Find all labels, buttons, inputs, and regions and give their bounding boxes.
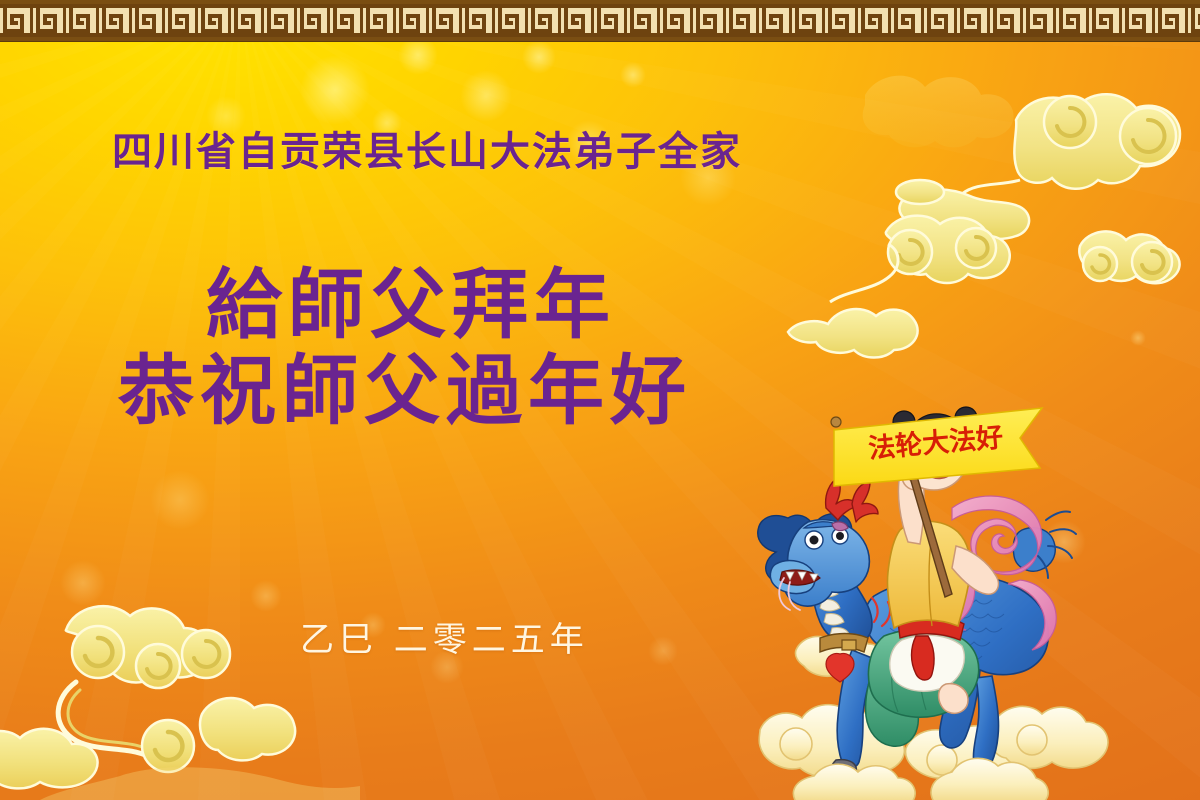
cloud-shape-right-small (1079, 231, 1179, 283)
bokeh-dot (150, 470, 210, 530)
cloud-decoration-top-right (770, 40, 1200, 370)
bokeh-dot (250, 580, 282, 612)
sender-line: 四川省自贡荣县长山大法弟子全家 (112, 132, 742, 172)
greek-key-unit (33, 4, 66, 37)
bokeh-dot (1130, 330, 1146, 346)
greek-key-unit (1056, 4, 1089, 37)
greek-key-unit (660, 4, 693, 37)
greek-key-unit (627, 4, 660, 37)
cloud-shape-upper (58, 606, 230, 760)
greek-key-unit (495, 4, 528, 37)
bokeh-dot (300, 55, 370, 125)
greek-key-unit (924, 4, 957, 37)
greek-key-border (0, 0, 1200, 41)
new-year-greeting-card: 法轮大法好 四川省自贡荣县长山大法弟子全家 給師父拜年 恭祝師父過年好 乙巳 二… (0, 0, 1200, 800)
greek-key-unit (528, 4, 561, 37)
greek-key-unit (1155, 4, 1188, 37)
greek-key-unit (957, 4, 990, 37)
cloud-shape-lower (788, 216, 1010, 358)
greek-key-unit (726, 4, 759, 37)
greek-key-unit (198, 4, 231, 37)
greek-key-unit (0, 4, 33, 37)
banner-flag: 法轮大法好 (831, 408, 1042, 486)
cloud-shape-lower-left (0, 698, 360, 800)
main-greeting-block: 給師父拜年 恭祝師父過年好 (118, 262, 692, 434)
greek-key-unit (231, 4, 264, 37)
greeting-line-2: 恭祝師父過年好 (118, 348, 692, 434)
bokeh-dot (522, 40, 556, 74)
greek-key-unit (759, 4, 792, 37)
greeting-line-1: 給師父拜年 (206, 262, 692, 348)
greek-key-unit (165, 4, 198, 37)
greek-key-unit (396, 4, 429, 37)
greek-key-unit (693, 4, 726, 37)
greek-key-unit (792, 4, 825, 37)
bokeh-dot (648, 636, 678, 666)
greek-key-unit (561, 4, 594, 37)
greek-key-unit (1122, 4, 1155, 37)
greek-key-unit (264, 4, 297, 37)
bokeh-dot (460, 70, 512, 122)
greek-key-unit (132, 4, 165, 37)
greek-key-unit (462, 4, 495, 37)
cloud-shape-faint (863, 76, 1014, 148)
greek-key-unit (990, 4, 1023, 37)
greek-key-unit (1188, 4, 1200, 37)
greek-key-pattern (0, 4, 1200, 37)
cloud-shape-main (896, 94, 1180, 239)
date-line: 乙巳 二零二五年 (300, 612, 589, 661)
cloud-decoration-bottom-left (0, 570, 360, 800)
greek-key-unit (297, 4, 330, 37)
greek-key-unit (594, 4, 627, 37)
bokeh-dot (60, 560, 106, 606)
greek-key-unit (1089, 4, 1122, 37)
greek-key-unit (363, 4, 396, 37)
bokeh-dot (620, 62, 646, 88)
greek-key-unit (891, 4, 924, 37)
greek-key-unit (330, 4, 363, 37)
boy-riding-dragon-illustration: 法轮大法好 (756, 400, 1116, 800)
greek-key-unit (858, 4, 891, 37)
greek-key-unit (429, 4, 462, 37)
dragon-head (758, 478, 878, 610)
greek-key-unit (66, 4, 99, 37)
greek-key-unit (825, 4, 858, 37)
greek-key-unit (1023, 4, 1056, 37)
greek-key-unit (99, 4, 132, 37)
bokeh-dot (398, 35, 438, 75)
